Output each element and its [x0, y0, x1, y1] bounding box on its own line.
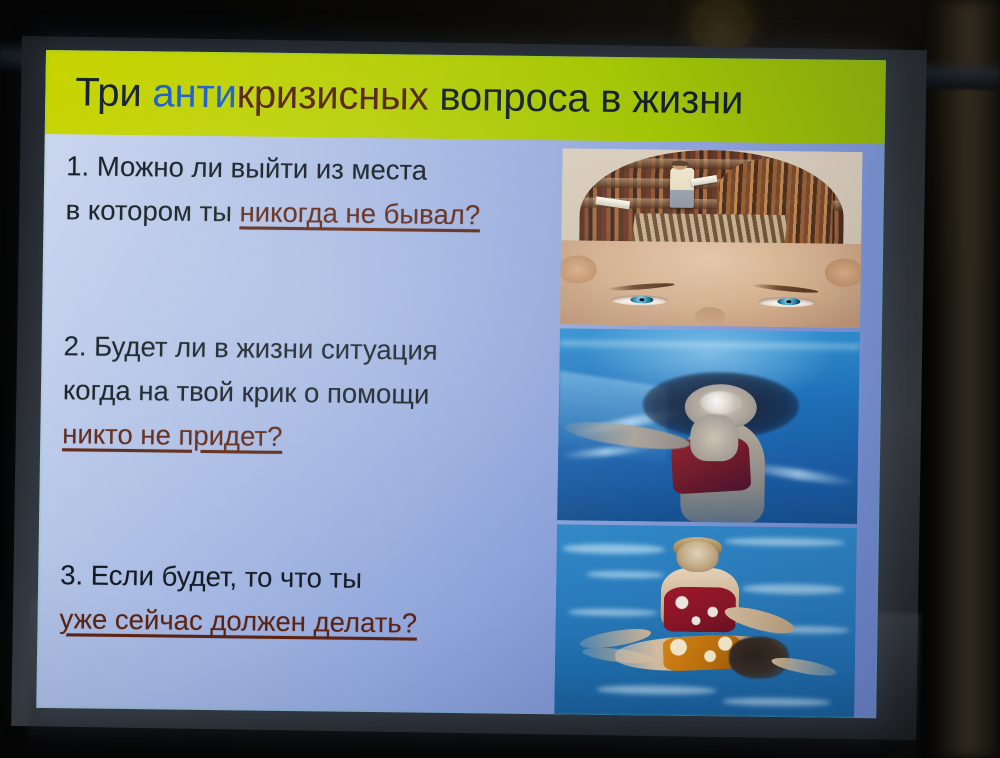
pupil-right: [787, 300, 792, 304]
pool-water: [557, 328, 860, 524]
question-3-line-1: 3. Если будет, то что ты: [60, 553, 561, 603]
question-3: 3. Если будет, то что ты уже сейчас долж…: [59, 553, 560, 647]
iris-right: [778, 298, 801, 306]
child-arm: [770, 654, 837, 679]
title-segment-red: кризисных: [236, 72, 428, 118]
question-2-line-1-text: 2. Будет ли в жизни ситуация: [63, 330, 438, 366]
question-2-line-1: 2. Будет ли в жизни ситуация: [63, 324, 564, 374]
question-3-emphasis: уже сейчас должен делать?: [59, 603, 417, 638]
wall-icon-ornament: [688, 0, 754, 52]
pupil-left: [640, 298, 645, 302]
question-1-line-1: 1. Можно ли выйти из места: [66, 144, 567, 194]
woman-head: [676, 541, 718, 572]
question-2-line-3: никто не придет?: [62, 412, 563, 462]
question-1-line-2-plain: в котором ты: [65, 194, 239, 227]
question-1: 1. Можно ли выйти из места в котором ты …: [65, 144, 566, 238]
photo-woman-teaching-child-to-swim: [554, 524, 857, 718]
eyebrow-left: [608, 282, 674, 292]
water-ripple: [568, 608, 658, 617]
wall-light-glow: [930, 0, 1000, 758]
water-surface: [560, 340, 860, 353]
question-3-line-1-text: 3. Если будет, то что ты: [60, 559, 362, 594]
slide-canvas: Три антикризисных вопроса в жизни 1. Мож…: [36, 50, 886, 718]
head-scene: [560, 148, 863, 328]
eye-left: [611, 294, 668, 305]
photo-head-with-library-inside: [560, 148, 863, 328]
water-ripple: [722, 697, 830, 706]
question-1-line-2: в котором ты никогда не бывал?: [65, 188, 566, 238]
slide-title: Три антикризисных вопроса в жизни: [75, 72, 743, 120]
library-reader-body: [669, 167, 693, 207]
title-segment-plain-1: Три: [75, 70, 153, 115]
title-segment-blue: анти: [152, 71, 237, 116]
eyebrow-right: [752, 283, 818, 295]
library-reader-hair: [672, 160, 689, 166]
question-3-line-2: уже сейчас должен делать?: [59, 597, 560, 647]
question-2-line-2-text: когда на твой крик о помощи: [63, 374, 430, 409]
water-ripple: [597, 684, 717, 695]
photos-column: [554, 148, 862, 712]
projected-slide: Три антикризисных вопроса в жизни 1. Мож…: [36, 50, 886, 718]
girl-hand-pinching-nose: [690, 414, 739, 461]
slide-title-bar: Три антикризисных вопроса в жизни: [45, 50, 886, 144]
pool-water: [554, 524, 857, 718]
question-1-emphasis: никогда не бывал?: [239, 196, 480, 230]
eye-right: [758, 296, 815, 307]
screenshot-stage: Три антикризисных вопроса в жизни 1. Мож…: [0, 0, 1000, 758]
question-2-emphasis: никто не придет?: [62, 418, 283, 452]
water-ripple: [563, 543, 665, 554]
questions-column: 1. Можно ли выйти из места в котором ты …: [58, 138, 566, 712]
ear-left: [560, 255, 597, 284]
water-ripple: [742, 584, 844, 595]
water-ripple: [586, 570, 664, 579]
face: [560, 240, 861, 328]
question-2: 2. Будет ли в жизни ситуация когда на тв…: [62, 324, 564, 462]
title-segment-plain-2: вопроса в жизни: [428, 75, 743, 123]
iris-left: [631, 296, 654, 304]
question-2-line-2: когда на твой крик о помощи: [63, 368, 564, 418]
nose: [695, 307, 725, 326]
woman-arm: [722, 602, 796, 639]
question-1-line-1-text: 1. Можно ли выйти из места: [66, 150, 427, 185]
photo-girl-underwater-holding-nose: [557, 328, 860, 524]
ear-right: [825, 258, 863, 287]
water-ripple: [725, 538, 845, 547]
